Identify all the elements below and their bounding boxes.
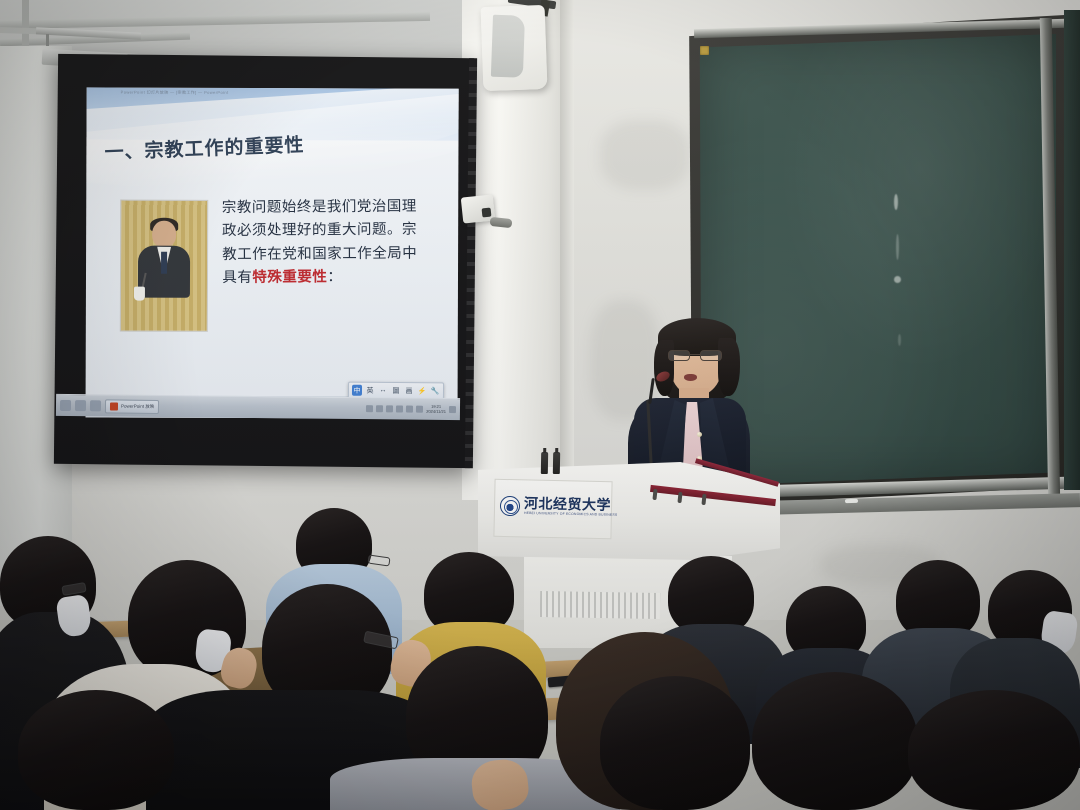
student-head (18, 690, 174, 810)
audience: UDIO COLLECTION (0, 0, 1080, 810)
student-head (908, 690, 1080, 810)
lecture-hall-photo: PowerPoint 幻灯片放映 — [宗教工作] — PowerPoint 一… (0, 0, 1080, 810)
student-head (600, 676, 750, 810)
student-eyeglasses (367, 555, 390, 567)
student-head (752, 672, 918, 810)
